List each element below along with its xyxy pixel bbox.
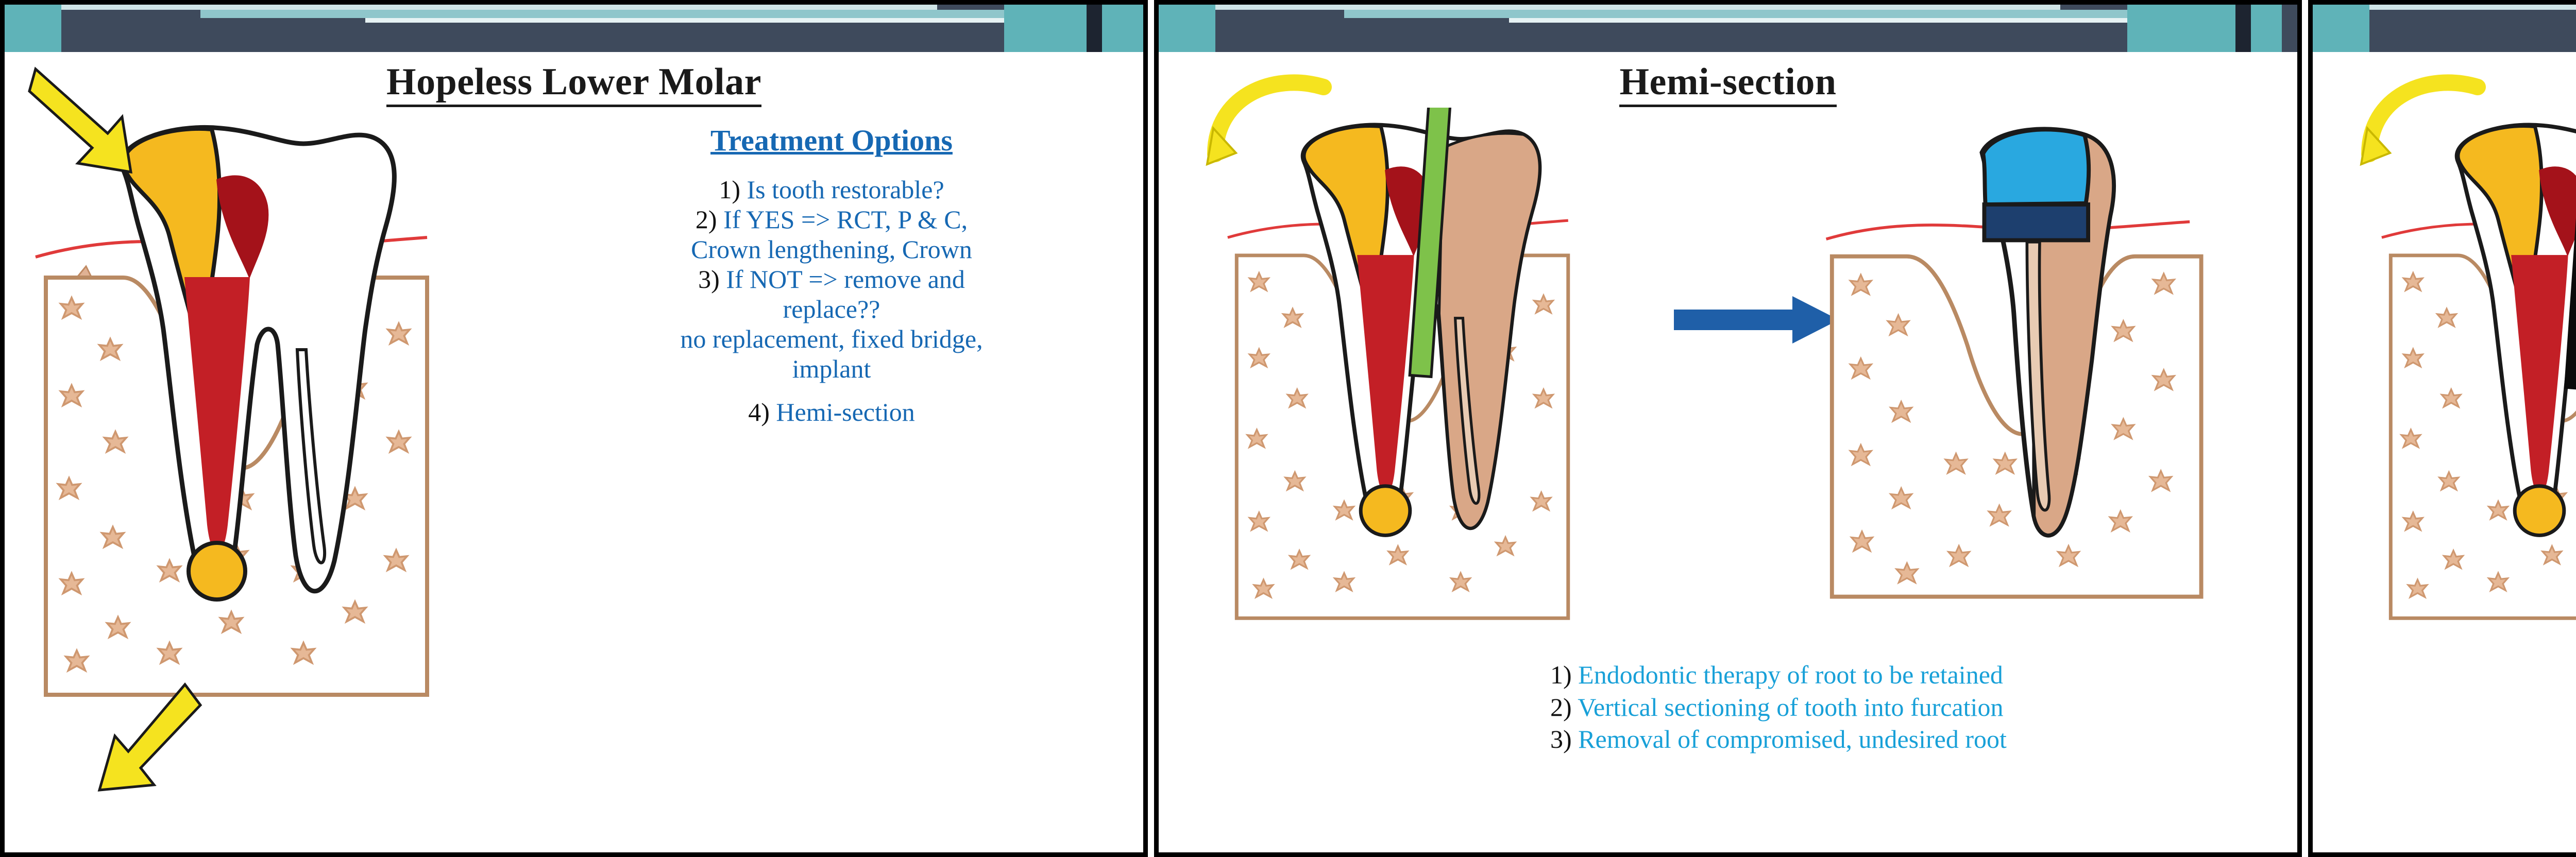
- header-streak: [200, 10, 1004, 18]
- list-item: 4) Hemi-section: [540, 397, 1123, 427]
- header-teal-block-right: [2127, 5, 2282, 52]
- list-item: 3) Removal of compromised, undesired roo…: [1550, 723, 2282, 756]
- page-title: Hopeless Lower Molar: [5, 60, 1143, 104]
- header-teal-block-left: [2313, 5, 2369, 52]
- header-teal-block-left: [5, 5, 61, 52]
- slide-panel-hopeless-lower-molar: Hopeless Lower Molar: [0, 0, 1148, 857]
- header-streak: [1215, 5, 2060, 10]
- yellow-curved-arrow: [1200, 56, 1365, 190]
- list-item: 1) Endodontic therapy of root to be reta…: [1550, 659, 2282, 691]
- header-dark-strip: [1087, 5, 1102, 52]
- spacer: [540, 384, 1123, 397]
- header-streak: [2369, 5, 2576, 10]
- header-streak: [365, 18, 1004, 23]
- slide-header-bar: [1159, 5, 2297, 52]
- slide-header-bar: [2313, 5, 2576, 52]
- hemisection-steps-list: 1) Endodontic therapy of root to be reta…: [1550, 659, 2282, 756]
- molar-tooth-svg: [2328, 108, 2576, 726]
- review-line-2: Ideally: keep large distal root and PDL!…: [2313, 725, 2576, 760]
- review-line-1: “Section and Remove”: [2313, 690, 2576, 725]
- treatment-options-list: 1) Is tooth restorable? 2) If YES => RCT…: [540, 175, 1123, 427]
- header-streak: [61, 5, 937, 10]
- header-streak: [1344, 10, 2127, 18]
- yellow-arrow-lower-left: [72, 679, 226, 813]
- list-item: 2) If YES => RCT, P & C,: [540, 204, 1123, 234]
- slide-deck-screenshot: Hopeless Lower Molar: [0, 0, 2576, 857]
- list-item: no replacement, fixed bridge,: [540, 324, 1123, 354]
- header-streak: [1509, 18, 2127, 23]
- sectioned-tooth-diagram: [1808, 118, 2272, 695]
- yellow-arrow-upper-left: [20, 59, 175, 193]
- header-dark-strip: [2235, 5, 2251, 52]
- slide-header-bar: [5, 5, 1143, 52]
- list-item: 1) Is tooth restorable?: [540, 175, 1123, 204]
- list-item: Crown lengthening, Crown: [540, 234, 1123, 264]
- molar-tooth-diagram: [1174, 108, 1720, 726]
- header-teal-block-right: [1004, 5, 1143, 52]
- header-teal-block-left: [1159, 5, 1215, 52]
- treatment-options-heading: Treatment Options: [540, 123, 1123, 158]
- molar-tooth-diagram: [2328, 108, 2576, 726]
- list-item: implant: [540, 354, 1123, 384]
- sectioned-tooth-svg: [1808, 118, 2272, 695]
- molar-tooth-svg: [1174, 108, 1720, 726]
- review-summary-text: “Section and Remove” Ideally: keep large…: [2313, 690, 2576, 759]
- yellow-curved-arrow: [2354, 56, 2519, 190]
- list-item: 3) If NOT => remove and: [540, 264, 1123, 294]
- list-item: replace??: [540, 294, 1123, 324]
- slide-panel-review-hemi-section: Review: Hemi-section: [2308, 0, 2576, 857]
- slide-panel-hemi-section: Hemi-section: [1154, 0, 2302, 857]
- list-item: 2) Vertical sectioning of tooth into fur…: [1550, 691, 2282, 724]
